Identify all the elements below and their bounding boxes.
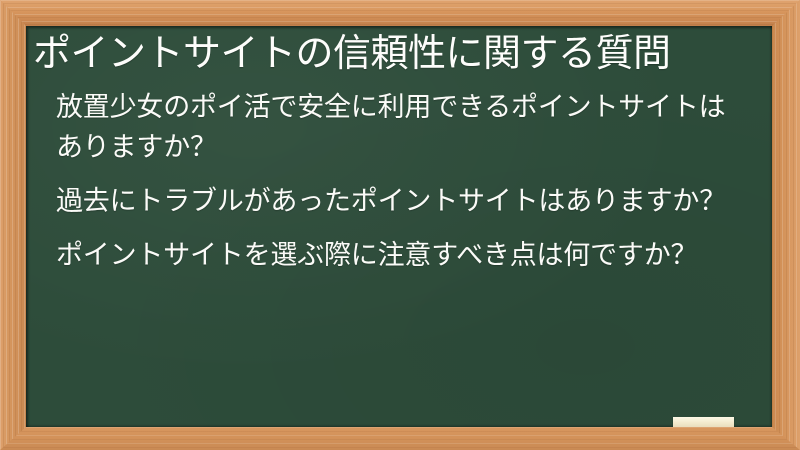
list-item: ポイントサイトを選ぶ際に注意すべき点は何ですか？ xyxy=(56,235,744,275)
board-content: ポイントサイトの信頼性に関する質問 放置少女のポイ活で安全に利用できるポイントサ… xyxy=(26,26,772,275)
page-title: ポイントサイトの信頼性に関する質問 xyxy=(26,26,772,77)
frame-left-rail xyxy=(0,0,26,450)
frame-right-rail xyxy=(772,0,800,450)
list-item: 放置少女のポイ活で安全に利用できるポイントサイトはありますか？ xyxy=(56,87,744,167)
frame-top-rail xyxy=(0,0,800,26)
blackboard-frame: ポイントサイトの信頼性に関する質問 放置少女のポイ活で安全に利用できるポイントサ… xyxy=(0,0,800,450)
chalkboard-surface: ポイントサイトの信頼性に関する質問 放置少女のポイ活で安全に利用できるポイントサ… xyxy=(26,26,772,427)
question-list: 放置少女のポイ活で安全に利用できるポイントサイトはありますか？ 過去にトラブルが… xyxy=(26,77,772,275)
frame-bottom-rail xyxy=(0,427,800,450)
chalk-eraser-icon xyxy=(673,417,734,427)
list-item: 過去にトラブルがあったポイントサイトはありますか？ xyxy=(56,181,744,221)
